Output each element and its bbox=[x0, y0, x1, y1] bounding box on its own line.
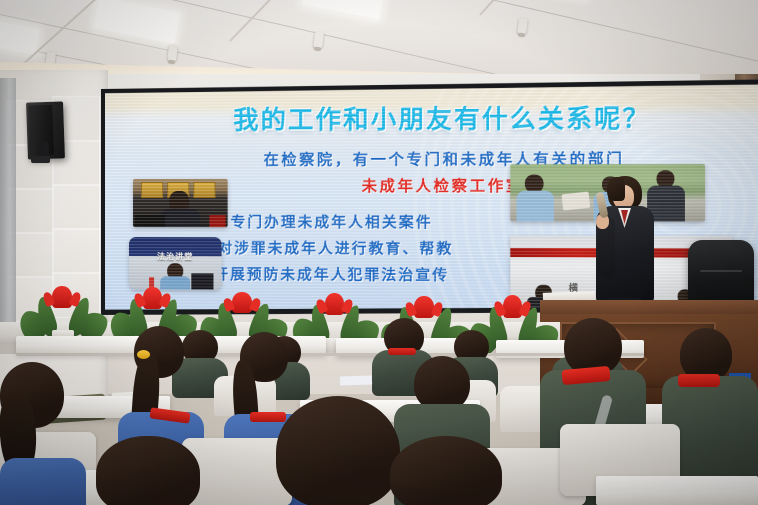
student bbox=[96, 430, 216, 505]
slide-photo-office bbox=[133, 179, 228, 227]
student-uniform bbox=[0, 458, 86, 505]
speaker-bracket bbox=[31, 156, 50, 163]
inset-caption: 法治讲堂 bbox=[133, 251, 218, 262]
student-desk bbox=[596, 476, 758, 505]
presenter-hair-front bbox=[607, 177, 625, 201]
student bbox=[0, 362, 92, 505]
student bbox=[390, 436, 520, 505]
presentation-screen[interactable]: 我的工作和小朋友有什么关系呢？ 在检察院，有一个专门和未成年人有关的部门 未成年… bbox=[101, 79, 758, 318]
student-head bbox=[96, 436, 200, 505]
slide-body-line: 专门办理未成年人相关案件 bbox=[231, 211, 433, 232]
slide-body-line: 开展预防未成年人犯罪法治宣传 bbox=[213, 263, 449, 285]
slide-title: 我的工作和小朋友有什么关系呢？ bbox=[155, 98, 732, 137]
chair-seam bbox=[700, 270, 742, 272]
student-head bbox=[390, 436, 502, 505]
red-scarf bbox=[678, 374, 720, 387]
hair-tie bbox=[137, 350, 150, 359]
red-scarf bbox=[388, 348, 416, 355]
left-door-frame bbox=[0, 78, 16, 328]
desk-paper bbox=[340, 375, 372, 385]
slide-photo-lecture: 法治讲堂 bbox=[129, 237, 222, 289]
screen-surface: 我的工作和小朋友有什么关系呢？ 在检察院，有一个专门和未成年人有关的部门 未成年… bbox=[105, 84, 758, 315]
red-bromeliad-plant bbox=[28, 282, 98, 338]
slide-body-line: 对涉罪未成年人进行教育、帮教 bbox=[218, 237, 454, 259]
classroom-photo: 我的工作和小朋友有什么关系呢？ 在检察院，有一个专门和未成年人有关的部门 未成年… bbox=[0, 0, 758, 505]
student-head bbox=[276, 396, 400, 505]
